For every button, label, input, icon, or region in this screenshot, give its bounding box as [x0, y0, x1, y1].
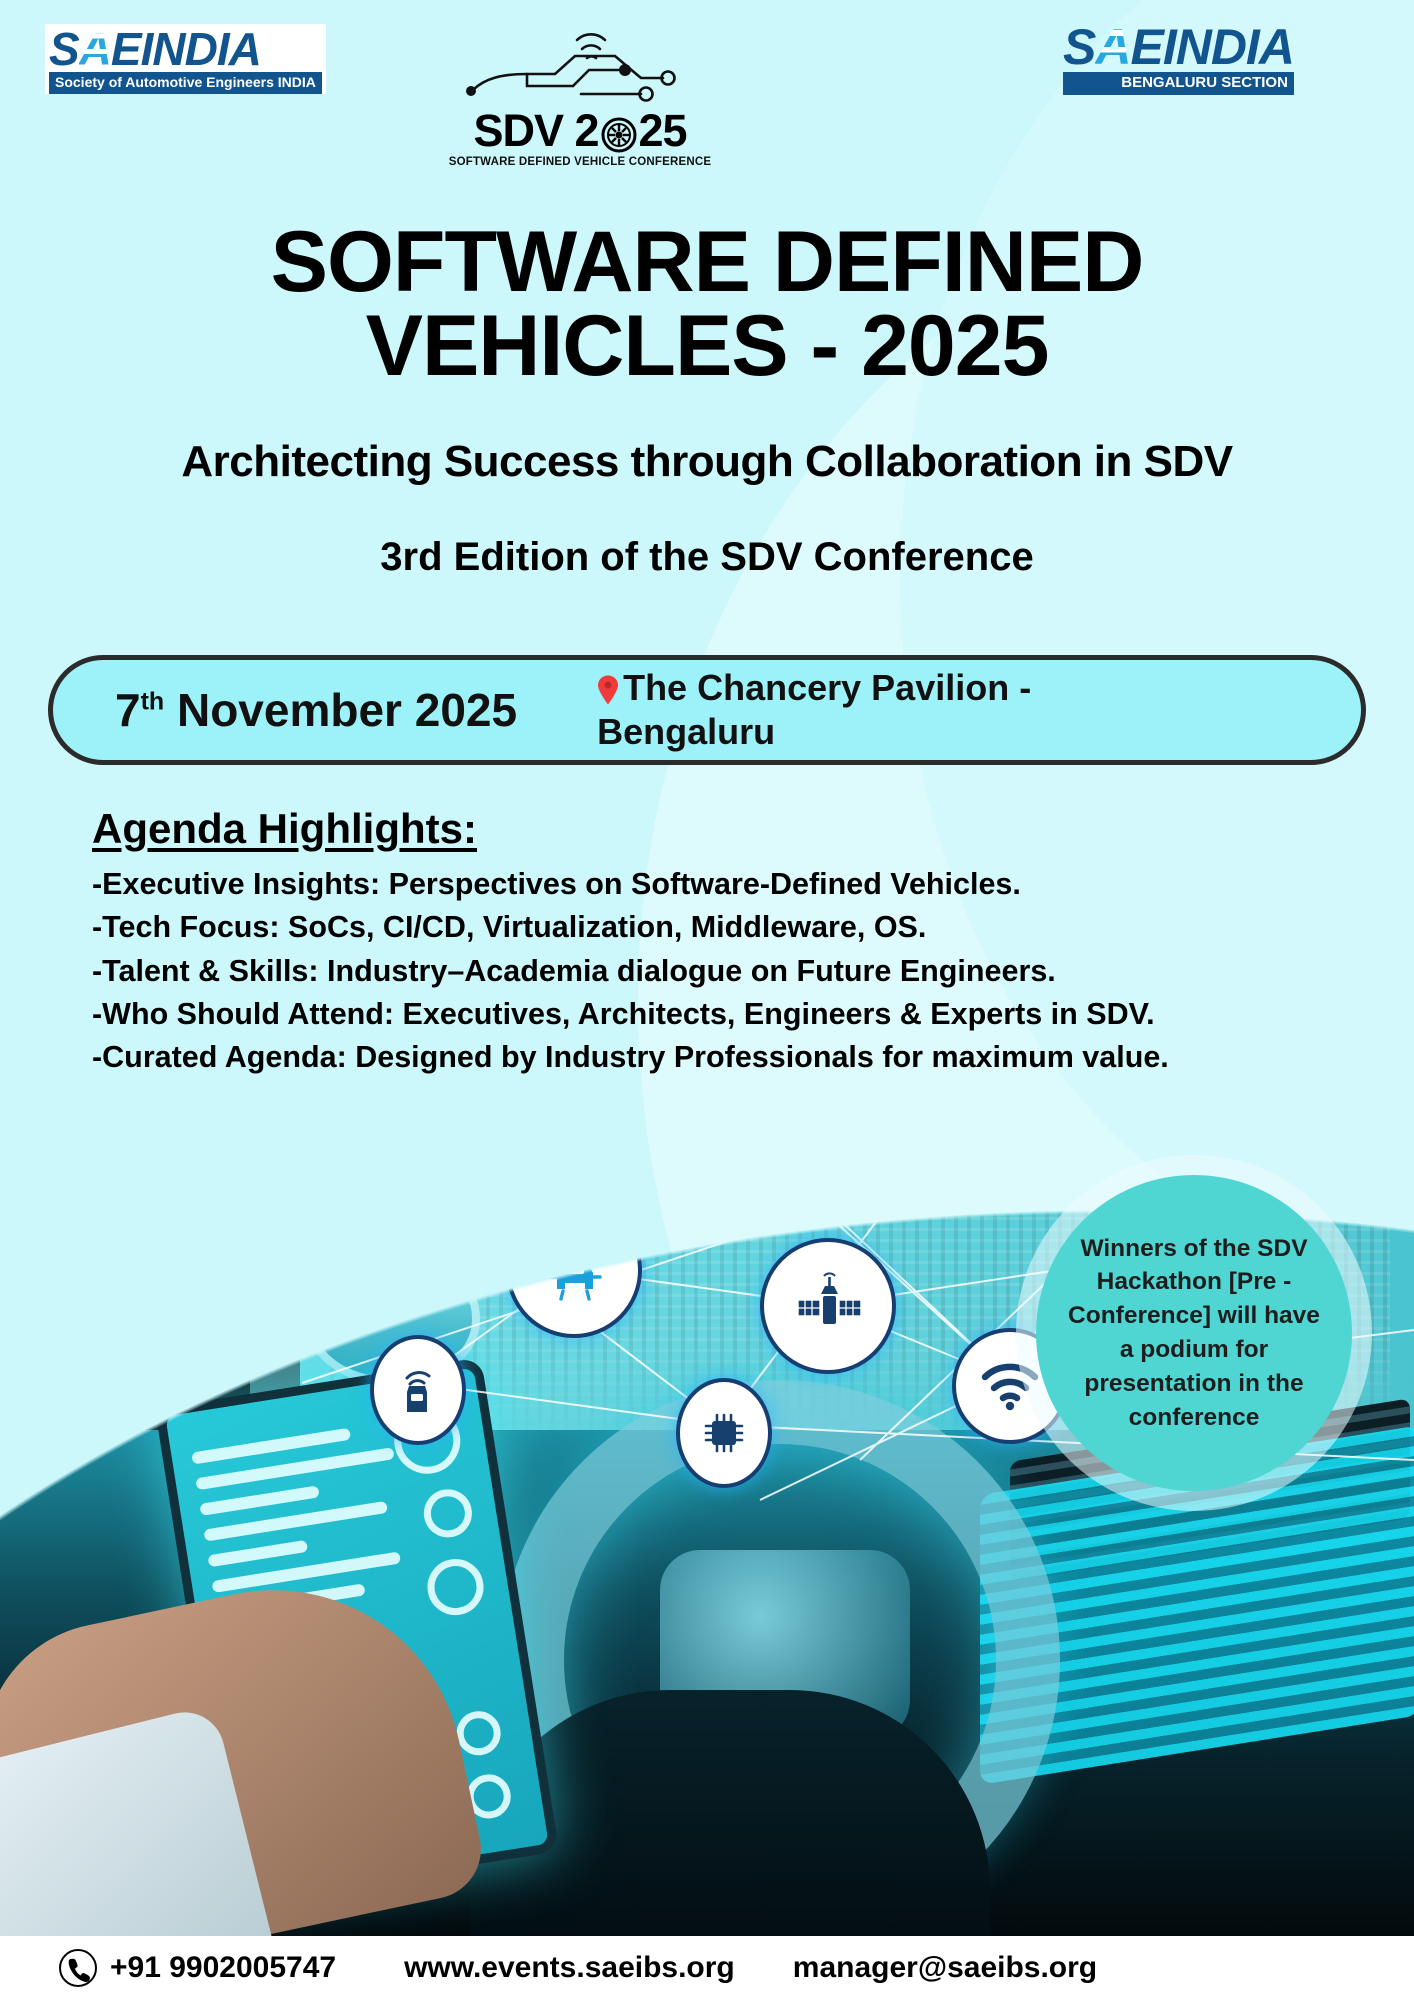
sae-india-logo: SAEINDIA Society of Automotive Engineers…: [45, 24, 326, 94]
edition-label: 3rd Edition of the SDV Conference: [0, 535, 1414, 580]
microphone-icon[interactable]: [386, 1148, 478, 1254]
background-swoosh-2: [900, 0, 1414, 1280]
wheel-icon: [601, 117, 637, 153]
sae-bengaluru-wordmark: SAEINDIA: [1063, 22, 1294, 72]
phone-icon: [58, 1948, 98, 1988]
sae-bengaluru-tagline: BENGALURU SECTION: [1063, 72, 1294, 95]
page-subtitle: Architecting Success through Collaborati…: [0, 437, 1414, 487]
location-pin-icon: [597, 671, 619, 701]
agenda-item: -Who Should Attend: Executives, Architec…: [92, 993, 1372, 1036]
agenda-item: -Tech Focus: SoCs, CI/CD, Virtualization…: [92, 906, 1372, 949]
agenda-section: Agenda Highlights: -Executive Insights: …: [92, 805, 1372, 1079]
page-title-line2: VEHICLES - 2025: [0, 304, 1414, 388]
sdv-event-mark: SDV 2: [430, 18, 730, 178]
sdv-year-wordmark: SDV 2: [430, 108, 730, 153]
cpu-chip-icon[interactable]: [676, 1378, 772, 1488]
agenda-item: -Executive Insights: Perspectives on Sof…: [92, 863, 1372, 906]
event-venue: The Chancery Pavilion - Bengaluru: [597, 666, 1117, 754]
sdv-mark-subtitle: SOFTWARE DEFINED VEHICLE CONFERENCE: [430, 156, 730, 168]
footer-email[interactable]: manager@saeibs.org: [793, 1951, 1097, 1985]
sdv-car-wifi-icon: [455, 18, 705, 108]
page-title-line1: SOFTWARE DEFINED: [0, 220, 1414, 304]
venue-text: The Chancery Pavilion - Bengaluru: [597, 667, 1031, 752]
hackathon-text: Winners of the SDV Hackathon [Pre - Conf…: [1036, 1232, 1352, 1435]
sae-india-tagline: Society of Automotive Engineers INDIA: [49, 72, 322, 94]
connected-car-icon[interactable]: [506, 1202, 642, 1338]
satellite-icon[interactable]: [760, 1238, 896, 1374]
footer-phone[interactable]: +91 9902005747: [58, 1948, 336, 1988]
hackathon-badge: Winners of the SDV Hackathon [Pre - Conf…: [1036, 1175, 1352, 1491]
footer-phone-text: +91 9902005747: [110, 1951, 336, 1985]
conference-poster: SAEINDIA Society of Automotive Engineers…: [0, 0, 1414, 2000]
title-block: SOFTWARE DEFINED VEHICLES - 2025 Archite…: [0, 220, 1414, 580]
sae-india-wordmark: SAEINDIA: [49, 26, 322, 72]
car-signal-icon[interactable]: [370, 1335, 466, 1445]
agenda-item: -Curated Agenda: Designed by Industry Pr…: [92, 1036, 1372, 1079]
poster-header: SAEINDIA Society of Automotive Engineers…: [0, 0, 1414, 180]
agenda-item: -Talent & Skills: Industry–Academia dial…: [92, 950, 1372, 993]
agenda-heading: Agenda Highlights:: [92, 805, 1372, 853]
sae-india-bengaluru-logo: SAEINDIA BENGALURU SECTION: [1063, 22, 1294, 95]
event-date: 7th November 2025: [53, 683, 517, 737]
poster-footer: +91 9902005747 www.events.saeibs.org man…: [0, 1936, 1414, 2000]
footer-website[interactable]: www.events.saeibs.org: [404, 1951, 735, 1985]
date-venue-pill: 7th November 2025 The Chancery Pavilion …: [48, 655, 1366, 765]
